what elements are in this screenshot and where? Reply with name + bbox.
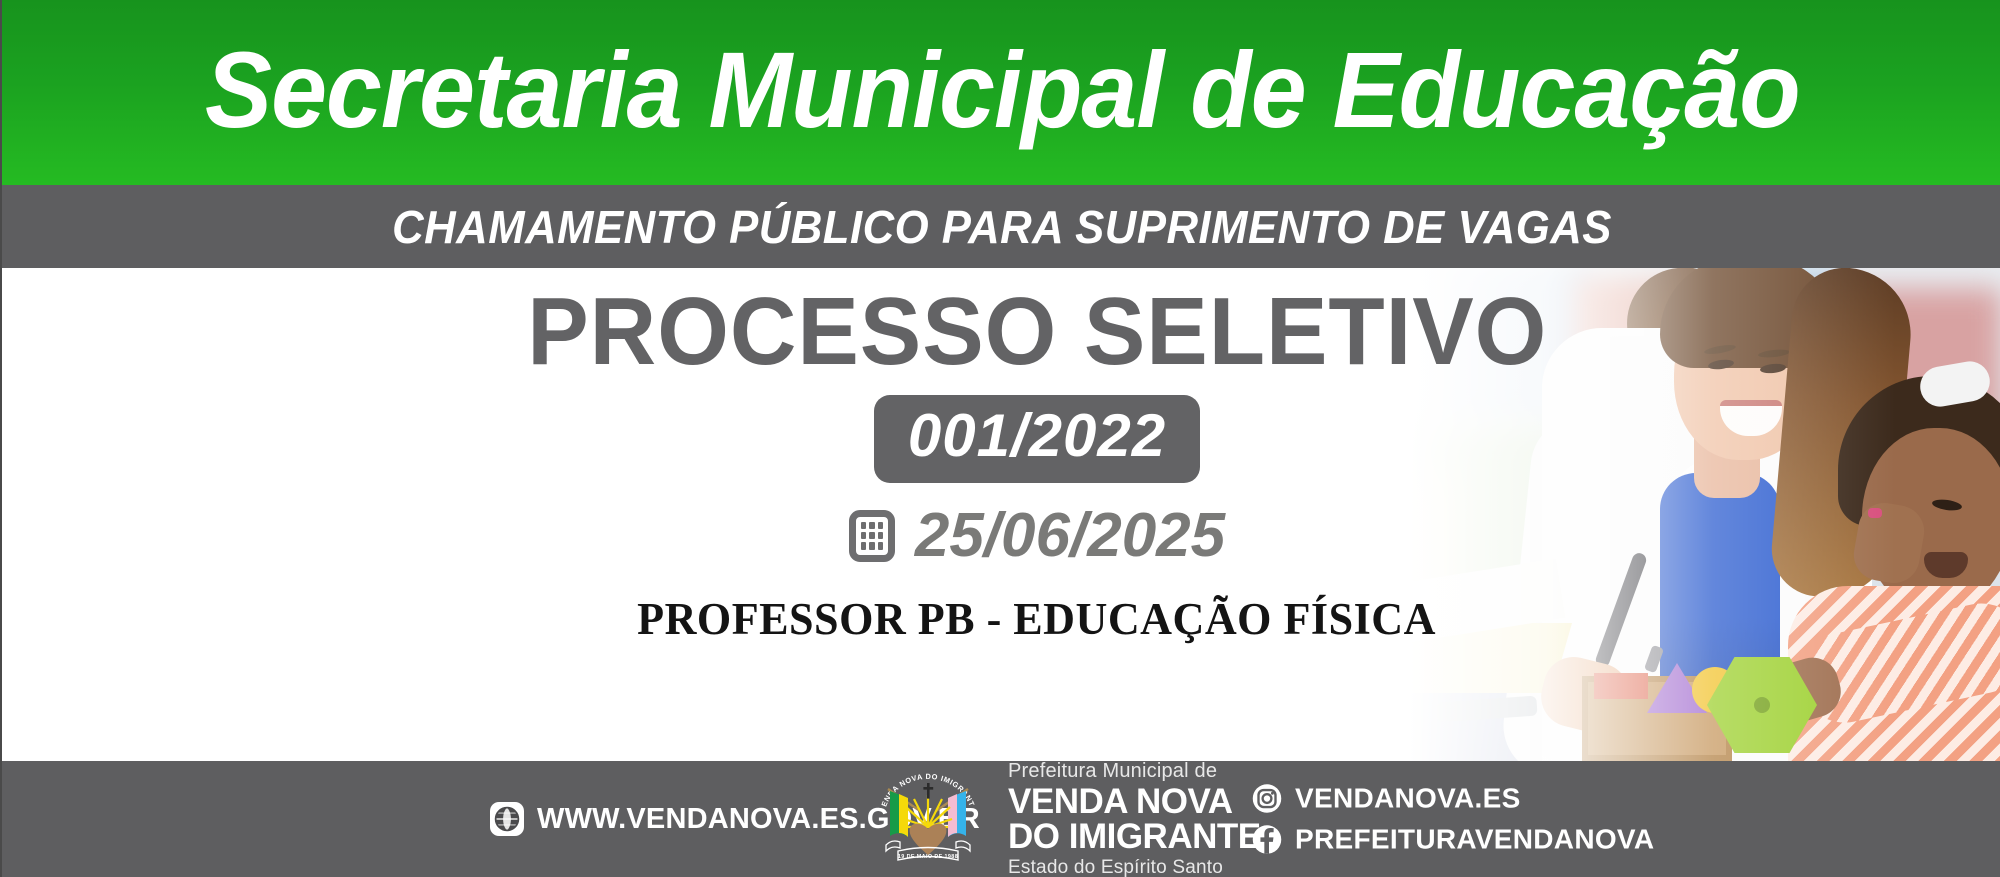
classroom-photo xyxy=(1242,268,2000,761)
brand-name-line1: VENDA NOVA xyxy=(1008,784,1261,819)
brand-wordmark: Prefeitura Municipal de VENDA NOVA DO IM… xyxy=(1008,761,1261,877)
brand-prefix: Prefeitura Municipal de xyxy=(1008,761,1261,781)
facebook-handle: PREFEITURAVENDANOVA xyxy=(1295,824,1654,856)
subtitle-text: CHAMAMENTO PÚBLICO PARA SUPRIMENTO DE VA… xyxy=(392,200,1612,254)
header-green-bar: Secretaria Municipal de Educação xyxy=(2,0,2000,185)
brand-state: Estado do Espírito Santo xyxy=(1008,858,1261,877)
page-title: Secretaria Municipal de Educação xyxy=(205,36,1800,150)
globe-icon xyxy=(490,802,524,836)
svg-text:19 DE MAIO DE 1988: 19 DE MAIO DE 1988 xyxy=(898,854,958,860)
municipality-brand: VENDA NOVA DO IMIGRANTE xyxy=(864,761,1261,877)
facebook-icon xyxy=(1252,825,1282,855)
subheader-gray-bar: CHAMAMENTO PÚBLICO PARA SUPRIMENTO DE VA… xyxy=(2,185,2000,268)
footer-bar: WWW.VENDANOVA.ES.GOV.BR VENDA NOVA DO IM… xyxy=(2,761,2000,877)
photo-white-fade-overlay xyxy=(1242,268,2000,761)
brand-name-line2: DO IMIGRANTE xyxy=(1008,819,1261,854)
instagram-link[interactable]: VENDANOVA.ES xyxy=(1252,783,1654,815)
facebook-link[interactable]: PREFEITURAVENDANOVA xyxy=(1252,824,1654,856)
main-content-area xyxy=(2,268,2000,761)
coat-of-arms-icon: VENDA NOVA DO IMIGRANTE xyxy=(864,767,992,871)
instagram-icon xyxy=(1252,784,1282,814)
announcement-banner: Secretaria Municipal de Educação CHAMAME… xyxy=(0,0,2000,877)
instagram-handle: VENDANOVA.ES xyxy=(1295,783,1521,815)
social-links: VENDANOVA.ES PREFEITURAVENDANOVA xyxy=(1252,783,1654,856)
